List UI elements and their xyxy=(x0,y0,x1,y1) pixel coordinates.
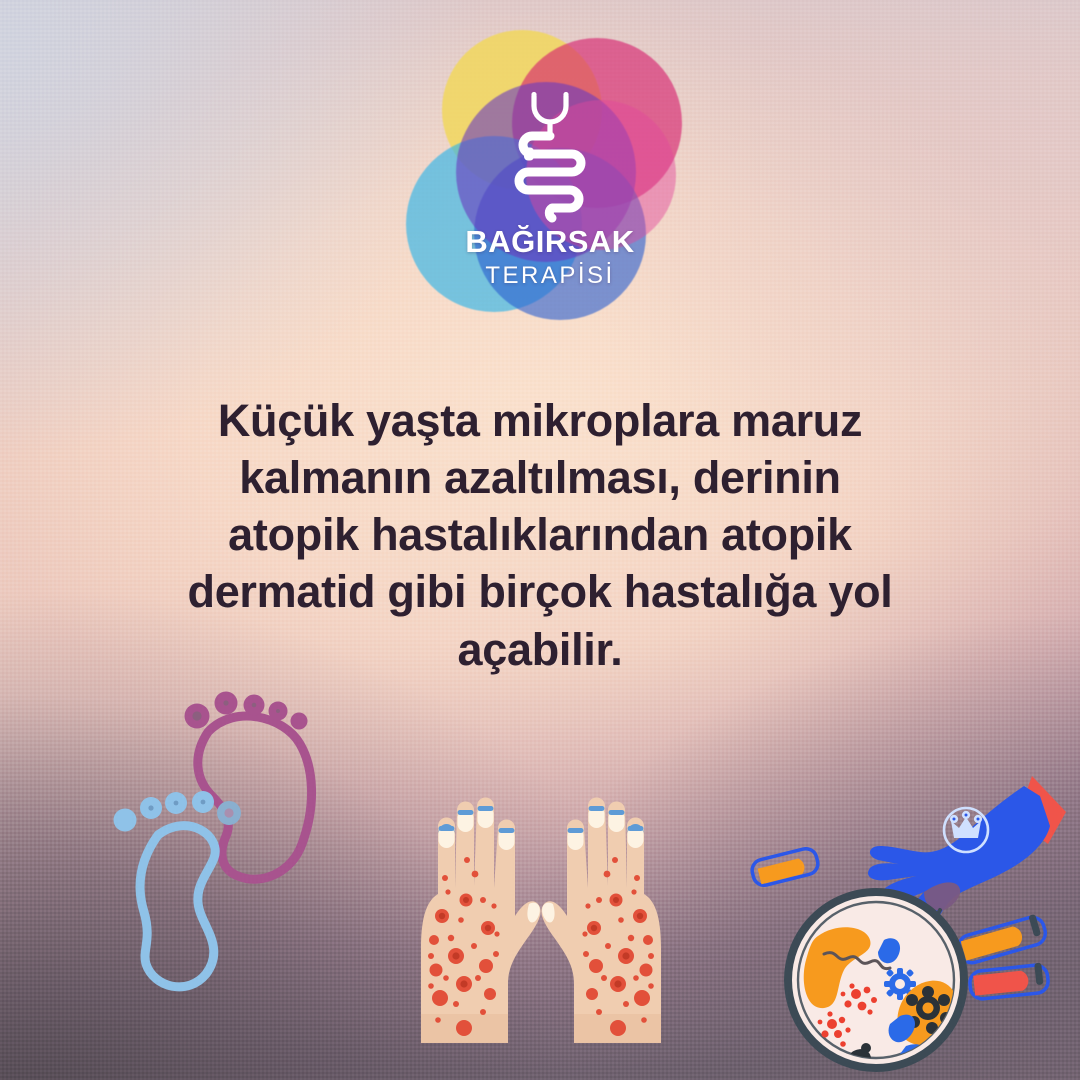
footprint-blue xyxy=(140,826,215,987)
tube-red xyxy=(969,963,1049,1000)
headline-line-2: atopik hastalıklarından atopik xyxy=(90,506,990,563)
rash-hands-illustration xyxy=(398,788,684,1043)
hand-right xyxy=(541,798,661,1044)
headline-text: Küçük yaşta mikroplara maruzkalmanın aza… xyxy=(90,392,990,678)
tube-orange-left xyxy=(750,846,820,887)
footprint-magenta-toes xyxy=(185,692,308,730)
headline-line-3: dermatid gibi birçok hastalığa yol xyxy=(90,563,990,620)
petri-dish-lab-illustration xyxy=(748,758,1080,1080)
brand-logo: BAĞIRSAK TERAPİSİ xyxy=(400,28,700,318)
tube-orange-right xyxy=(956,914,1048,966)
logo-name-text: BAĞIRSAK xyxy=(465,226,634,257)
stethoscope-intestine-icon xyxy=(502,90,598,222)
headline-line-0: Küçük yaşta mikroplara maruz xyxy=(90,392,990,449)
hand-left xyxy=(421,798,541,1044)
poster-canvas: BAĞIRSAK TERAPİSİ Küçük yaşta mikroplara… xyxy=(0,0,1080,1080)
headline-line-4: açabilir. xyxy=(90,621,990,678)
headline-line-1: kalmanın azaltılması, derinin xyxy=(90,449,990,506)
baby-footprints-illustration xyxy=(96,672,358,1012)
logo-subtitle-text: TERAPİSİ xyxy=(485,264,614,288)
petri-dish xyxy=(788,892,964,1073)
